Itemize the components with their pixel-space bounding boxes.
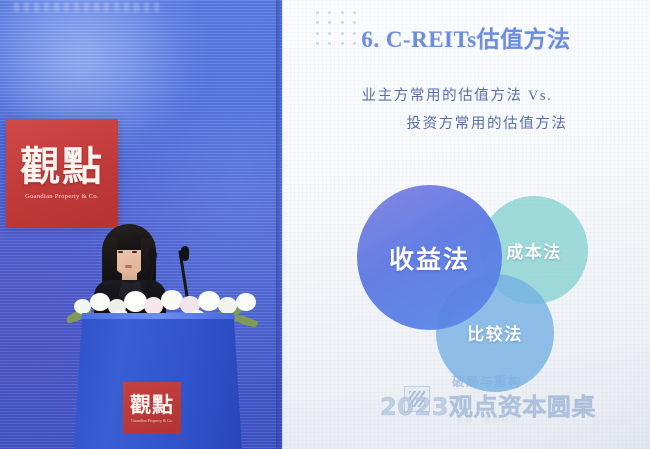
screen-left-seam [276, 0, 284, 449]
presentation-photo: 觀點 Guandian Property & Co. [0, 0, 650, 449]
speaker-mouth [125, 265, 132, 268]
flower [90, 293, 110, 311]
flower [198, 291, 220, 311]
wall-logo-en: Guandian Property & Co. [25, 193, 99, 200]
podium-logo-en: Guandian Property & Co. [131, 419, 173, 423]
event-subtext: 主办：观点机构 [282, 415, 650, 423]
podium-logo-cn: 觀點 [130, 394, 174, 415]
podium-top-edge [74, 313, 242, 319]
flower [218, 297, 237, 314]
backdrop-top-text-blur [14, 2, 164, 12]
wall-logo-cn: 觀點 [20, 147, 104, 187]
microphone-right-head [181, 246, 189, 261]
flower [236, 293, 256, 311]
podium-brand-logo: 觀點 Guandian Property & Co. [123, 382, 181, 434]
wall-brand-logo: 觀點 Guandian Property & Co. [6, 119, 118, 228]
microphone-left-head [148, 248, 155, 261]
venn-circle-income: 收益法 [357, 185, 502, 330]
speaker-hair-left [104, 238, 117, 283]
leaf [233, 313, 258, 329]
flower [74, 299, 91, 314]
